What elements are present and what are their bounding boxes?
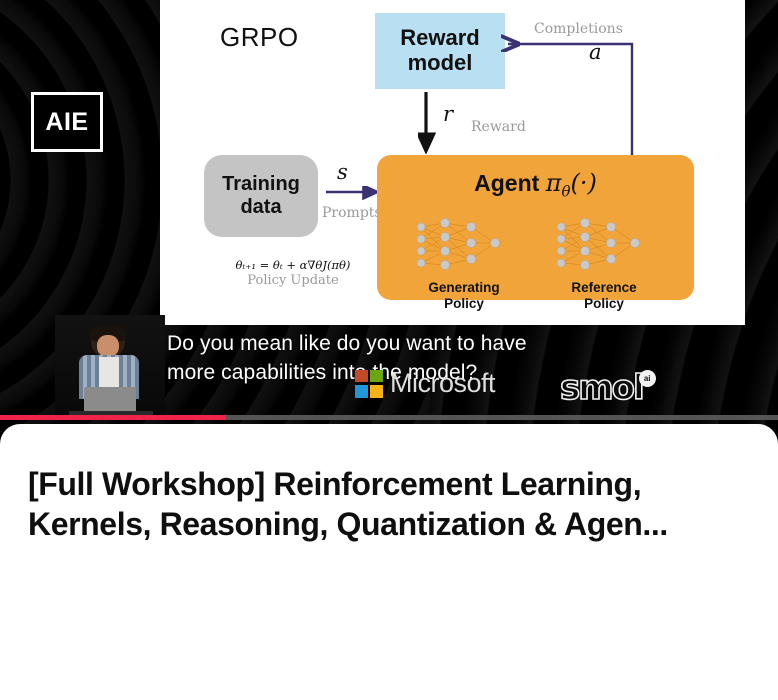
policy-symbol: π bbox=[546, 169, 562, 197]
video-details-panel: [Full Workshop] Reinforcement Learning, … bbox=[0, 424, 778, 700]
slide-heading: GRPO bbox=[220, 22, 299, 53]
neural-network-icon bbox=[551, 217, 657, 273]
presentation-slide: GRPO Reward model Training data bbox=[160, 0, 745, 325]
reward-model-box: Reward model bbox=[375, 13, 505, 89]
reference-policy-net: Reference Policy bbox=[539, 217, 669, 312]
smol-label: smol bbox=[560, 368, 643, 408]
policy-subscript: θ bbox=[561, 183, 570, 201]
video-title[interactable]: [Full Workshop] Reinforcement Learning, … bbox=[28, 464, 750, 544]
policy-update-caption: Policy Update bbox=[208, 273, 378, 288]
aie-watermark-logo: AIE bbox=[31, 92, 103, 152]
reward-model-line1: Reward bbox=[400, 26, 479, 51]
microsoft-logo: Microsoft bbox=[355, 368, 495, 399]
aie-watermark-label: AIE bbox=[45, 108, 88, 137]
training-data-box: Training data bbox=[204, 155, 318, 237]
generating-policy-net: Generating Policy bbox=[399, 217, 529, 312]
prompts-arrow-icon bbox=[326, 186, 381, 200]
reference-policy-label: Reference Policy bbox=[539, 280, 669, 312]
reward-symbol: r bbox=[443, 102, 453, 126]
reward-model-line2: model bbox=[408, 51, 473, 76]
training-data-line2: data bbox=[240, 196, 281, 219]
training-data-line1: Training bbox=[222, 173, 300, 196]
video-player[interactable]: AIE GRPO Reward model Training data bbox=[0, 0, 778, 430]
generating-policy-label: Generating Policy bbox=[399, 280, 529, 312]
caption-line-1: Do you mean like do you want to have bbox=[167, 329, 778, 358]
completions-symbol: a bbox=[589, 40, 602, 64]
completions-label: Completions bbox=[534, 21, 623, 37]
policy-update-formula: θₜ₊₁ = θₜ + α∇θJ(πθ) Policy Update bbox=[208, 258, 378, 288]
video-progress-bar[interactable] bbox=[0, 415, 778, 420]
agent-title-label: Agent bbox=[474, 170, 539, 196]
smol-ai-logo: smol ai bbox=[560, 368, 643, 408]
neural-network-icon bbox=[411, 217, 517, 273]
video-progress-played bbox=[0, 415, 226, 420]
agent-title: Agent πθ(·) bbox=[377, 169, 694, 201]
microsoft-label: Microsoft bbox=[390, 368, 495, 399]
policy-update-equation: θₜ₊₁ = θₜ + α∇θJ(πθ) bbox=[208, 258, 378, 272]
prompts-symbol: s bbox=[337, 160, 348, 184]
agent-box: Agent πθ(·) bbox=[377, 155, 694, 300]
youtube-video-page: AIE GRPO Reward model Training data bbox=[0, 0, 778, 700]
policy-argument: (·) bbox=[571, 169, 597, 197]
prompts-label: Prompts bbox=[322, 205, 382, 221]
smol-ai-badge: ai bbox=[639, 370, 656, 387]
speaker-camera-inset bbox=[55, 315, 165, 420]
microsoft-squares-icon bbox=[355, 370, 383, 398]
